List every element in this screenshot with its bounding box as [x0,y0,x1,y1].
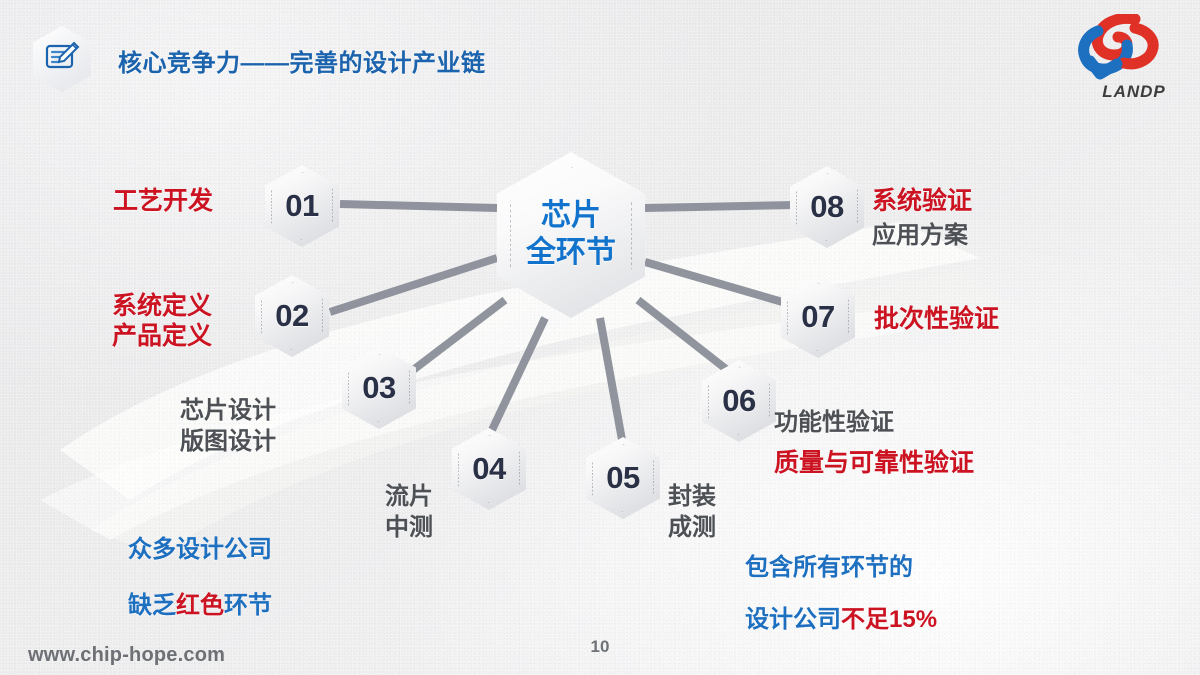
label-08-line2: 应用方案 [872,221,968,252]
callout-left-line1: 众多设计公司 [128,527,272,573]
center-line-2: 全环节 [526,235,616,272]
label-06-line2: 质量与可靠性验证 [774,447,974,479]
node-number-05: 05 [606,460,639,496]
page-title: 核心竞争力——完善的设计产业链 [118,43,486,78]
callout-left-line2-a: 缺乏 [128,592,176,619]
node-hexagon-04[interactable]: 04 [452,428,526,510]
label-04-line2: 中测 [385,513,433,544]
node-number-06: 06 [722,383,755,419]
node-hexagon-07[interactable]: 07 [781,276,855,358]
node-number-08: 08 [810,189,843,225]
label-03-line1: 芯片设计 [180,396,276,427]
label-04-line1: 流片 [385,482,433,513]
node-hexagon-01[interactable]: 01 [265,165,339,247]
node-hexagon-05[interactable]: 05 [586,437,660,519]
label-02-line1: 系统定义 [112,290,212,322]
document-edit-icon [44,39,80,75]
node-number-01: 01 [285,188,318,224]
node-hexagon-02[interactable]: 02 [255,275,329,357]
label-01: 工艺开发 [113,185,213,217]
node-hexagon-08[interactable]: 08 [790,166,864,248]
center-hexagon[interactable]: 芯片 全环节 [497,152,645,318]
callout-right-line2-b: 不足15% [841,606,937,633]
label-03-line2: 版图设计 [180,427,276,458]
node-number-03: 03 [362,370,395,406]
slide: 核心竞争力——完善的设计产业链 LANDP 芯片 全环节 01 02 03 [0,0,1200,675]
landp-logo: LANDP [1054,14,1184,106]
label-02-line2: 产品定义 [112,320,212,352]
callout-right-line1: 包含所有环节的 [745,545,913,591]
center-line-1: 芯片 [541,198,601,235]
label-08-line1: 系统验证 [872,185,972,217]
label-07: 批次性验证 [874,303,999,335]
callout-right-line2: 设计公司不足15% [745,597,937,643]
node-hexagon-03[interactable]: 03 [342,347,416,429]
callout-left-line2-b: 红色 [176,592,224,619]
node-hexagon-06[interactable]: 06 [702,360,776,442]
center-hexagon-text: 芯片 全环节 [497,152,645,318]
node-number-07: 07 [801,299,834,335]
label-06-line1: 功能性验证 [774,408,894,439]
label-05-line1: 封装 [668,482,716,513]
callout-right-line2-a: 设计公司 [745,606,841,633]
label-05-line2: 成测 [668,513,716,544]
callout-left-line2: 缺乏红色环节 [128,583,272,629]
node-number-02: 02 [275,298,308,334]
callout-left-line2-c: 环节 [224,592,272,619]
page-number: 10 [0,637,1200,657]
logo-text: LANDP [1084,82,1184,102]
node-number-04: 04 [472,451,505,487]
landp-logo-mark [1072,14,1167,84]
